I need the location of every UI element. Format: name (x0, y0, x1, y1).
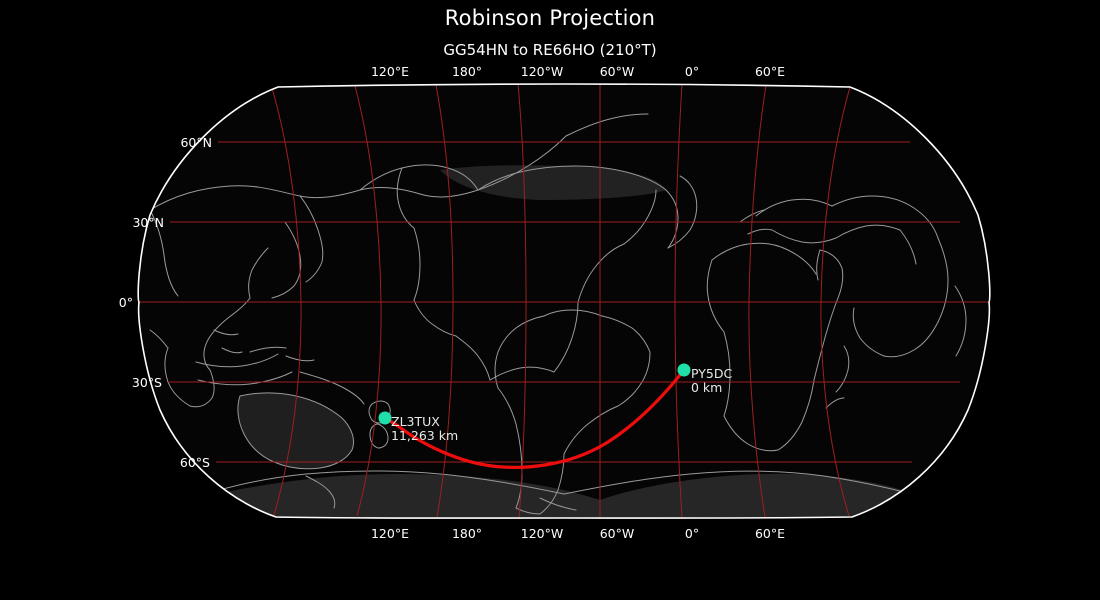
lat-tick-30N: 30°N (132, 215, 164, 230)
station-callsign-label: PY5DC (691, 366, 732, 381)
lon-tick-bottom-1: 180° (452, 526, 482, 541)
lat-tick-30S: 30°S (132, 375, 162, 390)
lon-tick-bottom-5: 60°E (755, 526, 785, 541)
lon-tick-bottom-2: 120°W (521, 526, 563, 541)
lon-tick-bottom-0: 120°E (371, 526, 409, 541)
map-canvas (130, 80, 1000, 525)
station-callsign-label: ZL3TUX (391, 414, 440, 429)
lon-tick-bottom-3: 60°W (600, 526, 635, 541)
longitude-labels-bottom: 120°E 180° 120°W 60°W 0° 60°E (371, 526, 785, 541)
longitude-labels-top: 120°E 180° 120°W 60°W 0° 60°E (371, 64, 785, 79)
lon-tick-top-0: 120°E (371, 64, 409, 79)
station-distance-label: 0 km (691, 380, 722, 395)
lon-tick-top-5: 60°E (755, 64, 785, 79)
robinson-projection-map[interactable]: PY5DC 0 km ZL3TUX 11,263 km 120°E 180° 1… (0, 0, 1100, 600)
lat-tick-60S: 60°S (180, 455, 210, 470)
lon-tick-top-3: 60°W (600, 64, 635, 79)
lon-tick-bottom-4: 0° (685, 526, 699, 541)
lat-tick-60N: 60°N (180, 135, 212, 150)
lon-tick-top-2: 120°W (521, 64, 563, 79)
station-distance-label: 11,263 km (391, 428, 458, 443)
station-marker-icon[interactable] (379, 412, 392, 425)
lon-tick-top-4: 0° (685, 64, 699, 79)
lon-tick-top-1: 180° (452, 64, 482, 79)
lat-tick-0: 0° (119, 295, 133, 310)
station-marker-icon[interactable] (678, 364, 691, 377)
map-figure: Robinson Projection GG54HN to RE66HO (21… (0, 0, 1100, 600)
